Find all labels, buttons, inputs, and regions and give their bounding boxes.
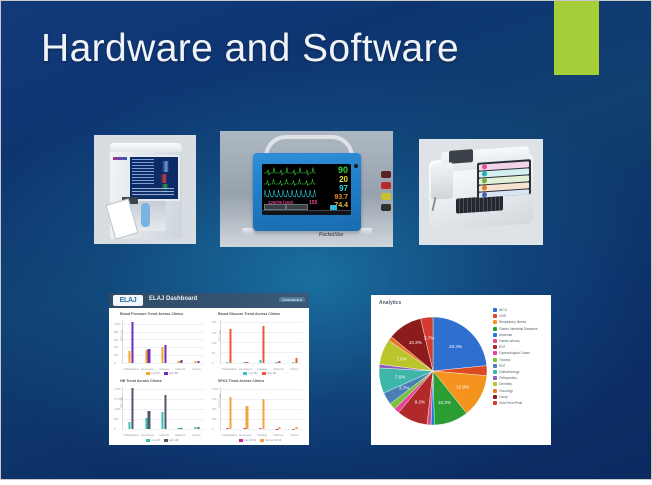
chart-x-tick: Gulbarga [257,368,267,371]
chart-y-tick: 1,000 [212,388,219,391]
legend-label: High BG [267,373,277,376]
legend-swatch [493,308,497,312]
chart-bar-group [243,387,248,430]
dashboard-chart-2: Blood Glucose Trend Across ClinicsBG Cou… [210,311,306,376]
pie-slice-label: 7.6% [396,357,406,362]
chart-bar [129,351,131,363]
chart-legend: Low BGHigh BG [210,372,306,375]
chart-bar-group [178,387,183,430]
chart-y-tick: 250 [212,418,216,421]
chart-legend: Low SPO2Normal SPO2 [210,439,306,442]
chart-bar-group [178,320,183,363]
chart-x-tick: Mahboob [273,434,283,437]
chart-y-tick: 500 [114,418,118,421]
dashboard-header: ELAJ ELAJ Dashboard Dashboard [109,293,309,308]
chart-bar-group [292,387,297,430]
chart-bar-group [194,387,199,430]
legend-label: Low BP [151,373,160,376]
chart-bar [246,362,248,363]
chart-bar [181,360,183,362]
legend-swatch [493,364,497,368]
pie-slice-label: 10.3% [438,400,451,405]
chart-y-tick: 1,000 [114,323,121,326]
chart-bar [295,427,297,429]
legend-swatch [243,372,247,375]
chart-bar [227,428,229,429]
legend-label: Low BG [248,373,257,376]
legend-swatch [493,370,497,374]
chart-y-tick: 200 [114,354,118,357]
page-title: Hardware and Software [41,27,459,71]
legend-swatch [493,382,497,386]
legend-label: CNS [499,314,506,318]
pie-chart: 23.4%12.9%10.3%9.2%3.7%7.6%7.6%10.3%3.7% [377,311,493,435]
chart-y-tick: 2,000 [114,388,121,391]
vital-rr: 20 [339,176,348,184]
chart-bar [279,361,281,363]
chart-bar-group [161,387,166,430]
image-analytics-pie: Analytics 23.4%12.9%10.3%9.2%3.7%7.6%7.6… [371,295,551,445]
dashboard-header-pill: Dashboard [279,297,305,302]
chart-x-tick: Gulbarga [159,434,169,437]
chart-bar-group [129,320,134,363]
chart-x-tick: Devanagere [239,368,252,371]
chart-plot-area: BG Count050100150200ChikkaballapurDevana… [220,320,303,364]
gridline [221,363,303,364]
legend-label: Orthopedics [499,376,517,380]
chart-bar [194,427,196,429]
legend-label: Gynecological Cases [499,351,530,355]
legend-label: Opthalmology [499,370,519,374]
legend-swatch [164,372,168,375]
chart-x-tick: Raichur [291,368,299,371]
chart-bar [132,322,134,363]
chart-y-tick: 1,000 [114,408,121,411]
chart-x-tick: Raichur [291,434,299,437]
chart-x-tick: Mahboob [273,368,283,371]
device-screen-icon [128,155,180,201]
chart-y-tick: 500 [212,408,216,411]
legend-swatch [493,376,497,380]
legend-label: Dentistry [499,382,512,386]
legend-label: Normal SPO2 [265,439,281,442]
chart-plot-area: SPO2 Count02505007501,000ChikkaballapurD… [220,387,303,431]
chart-bar [164,395,166,429]
image-clinic-dashboard: ELAJ ELAJ Dashboard Dashboard Blood Pres… [109,293,309,445]
dashboard-chart-4: SPO2 Trend Across ClinicsSPO2 Count02505… [210,378,306,443]
chart-bar-group [276,387,281,430]
chart-bar-group [259,320,264,363]
chart-bar [194,361,196,362]
legend-swatch [493,358,497,362]
chart-x-tick: Devanagere [141,368,154,371]
chart-bar [292,362,294,363]
pie-slice-label: 7.6% [395,375,405,380]
chart-bar [262,399,264,429]
chart-bar [230,397,232,429]
chart-y-tick: 200 [212,321,216,324]
chart-x-tick: Chikkaballapur [123,434,139,437]
chart-bar-group [145,320,150,363]
chart-x-tick: Devanagere [141,434,154,437]
chart-y-tick: 600 [114,339,118,342]
legend-label: Low SPO2 [244,439,256,442]
chart-x-tick: Chikkaballapur [221,434,237,437]
chart-y-tick: 100 [212,342,216,345]
legend-swatch [493,389,497,393]
chart-bar-group [227,387,232,430]
gridline [123,429,205,430]
legend-label: Trauma [499,358,510,362]
chart-bar-group [243,320,248,363]
chart-y-tick: 0 [114,362,115,365]
legend-swatch [493,401,497,405]
ecg-waveform-icon [264,165,316,176]
chart-bar [259,360,261,362]
pie-chart-legend: NICUCNSRespiratory IllnessGastro Intesti… [493,307,537,406]
chart-y-tick: 50 [212,352,215,355]
chart-bar [243,428,245,429]
legend-swatch [493,345,497,349]
image-hematology-analyzer [94,135,196,244]
gridline [123,363,205,364]
pie-slice-label: 10.3% [409,340,422,345]
chart-x-tick: Raichur [193,434,201,437]
legend-swatch [493,339,497,343]
chart-y-tick: 400 [114,346,118,349]
chart-bar-group [161,320,166,363]
legend-swatch [493,333,497,337]
monitor-brand-label: PocketStar [319,232,343,238]
chart-legend: Low BPHigh BP [112,372,208,375]
pie-slice-label: 23.4% [449,344,462,349]
chart-x-tick: Gulbarga [159,368,169,371]
chart-bar-group [129,387,134,430]
chart-bar [295,358,297,362]
chart-x-tick: Chikkaballapur [123,368,139,371]
vital-spo2: 97 [339,185,348,193]
pie-slice-label: 9.2% [415,399,425,404]
pie-chart-title: Analytics [379,300,401,306]
vital-pulse: 155 [309,200,317,206]
pie-slice-label: 12.9% [456,384,469,389]
chart-bar [161,347,163,362]
legend-label: NICU [499,308,507,312]
chart-x-tick: Mahboob [175,434,185,437]
legend-label: Genito urinary [499,339,520,343]
chart-x-tick: Chikkaballapur [221,368,237,371]
legend-label: Anaemia [499,333,512,337]
chart-legend: Low HBHigh HB [112,439,208,442]
chart-y-tick: 0 [212,362,213,365]
legend-label: High BP [169,373,179,376]
chart-bar [227,362,229,363]
chart-title: HB Trend Across Clinics [120,379,208,383]
chart-bar [129,422,131,429]
chart-bar [181,428,183,429]
chart-bar [178,428,180,429]
chart-bar [145,418,147,429]
legend-label: Respiratory Illness [499,320,526,324]
chart-bar [178,361,180,363]
chart-bar [197,361,199,363]
monitor-display: 90 20 97 93.7 74.4 125/78 (102) 155 [262,164,351,215]
resp-waveform-icon [264,176,316,187]
accent-bar [554,1,599,75]
presentation-slide: Hardware and Software [0,0,652,480]
image-patient-monitor: 90 20 97 93.7 74.4 125/78 (102) 155 Pock… [220,131,393,247]
vital-temp1: 93.7 [334,194,348,201]
vital-hr: 90 [338,166,348,175]
chart-plot-area: HB Count05001,0001.5,5002,000Chikkaballa… [122,387,205,431]
indicator-led-icon [354,164,358,168]
chart-bar-group [227,320,232,363]
chart-y-tick: 800 [114,331,118,334]
spo2-waveform-icon [264,187,316,199]
chart-bar-group [292,320,297,363]
pie-slice-label: 3.7% [399,386,409,391]
chart-bar [279,427,281,429]
legend-swatch [262,372,266,375]
chart-bar-group [145,387,150,430]
legend-label: Low HB [151,439,160,442]
chart-title: Blood Glucose Trend Across Clinics [218,312,306,316]
chart-title: SPO2 Trend Across Clinics [218,379,306,383]
chart-bar [262,326,264,362]
chart-bar [164,345,166,362]
analyzer-touchscreen [477,159,531,198]
dashboard-logo: ELAJ [113,295,143,306]
chart-x-tick: Raichur [193,368,201,371]
chart-title: Blood Pressure Trend Across Clinics [120,312,208,316]
dashboard-header-right: Dashboard [276,297,305,302]
legend-swatch [493,320,497,324]
chart-bar [243,362,245,363]
chart-bar-group [194,320,199,363]
legend-label: Camp [499,395,508,399]
legend-label: ENT [499,364,506,368]
legend-swatch [493,395,497,399]
chart-y-tick: 750 [212,398,216,401]
legend-swatch [146,372,150,375]
legend-swatch [146,439,150,442]
dashboard-title: ELAJ Dashboard [149,296,197,302]
chart-y-tick: 150 [212,332,216,335]
dashboard-chart-grid: Blood Pressure Trend Across ClinicsBP Co… [112,311,306,442]
gridline [221,429,303,430]
chart-bar [230,329,232,363]
chart-bar [161,412,163,429]
legend-swatch [493,327,497,331]
chart-plot-area: BP Count02004006008001,000Chikkaballapur… [122,320,205,364]
chart-y-axis-label: SPO2 Count [219,393,222,408]
legend-swatch [260,439,264,442]
legend-swatch [164,439,168,442]
chart-bar [145,350,147,363]
dashboard-chart-3: HB Trend Across ClinicsHB Count05001,000… [112,378,208,443]
chart-bar [132,388,134,429]
chart-bar-group [259,387,264,430]
chart-x-tick: Devanagere [239,434,252,437]
chart-y-tick: 0 [212,428,213,431]
legend-swatch [493,351,497,355]
legend-swatch [493,314,497,318]
legend-label: Gastro Intestinal Diseases [499,327,537,331]
legend-label: Viral Fever/Pain [499,401,522,405]
chart-bar-group [276,320,281,363]
image-biochemistry-analyzer [419,139,543,245]
chart-x-tick: Gulbarga [257,434,267,437]
legend-label: ENT [499,345,506,349]
chart-bar [148,349,150,363]
dashboard-chart-1: Blood Pressure Trend Across ClinicsBP Co… [112,311,208,376]
chart-x-tick: Mahboob [175,368,185,371]
chart-y-tick: 1.5,500 [114,398,123,401]
pie-slice-label: 3.7% [424,335,434,340]
chart-y-tick: 0 [114,428,115,431]
chart-bar [197,427,199,429]
legend-label: High HB [169,439,179,442]
chart-bar [246,406,248,429]
legend-label: Oncology [499,389,513,393]
chart-bar [259,428,261,429]
legend-item: Viral Fever/Pain [493,400,537,406]
chart-bar [148,411,150,429]
legend-swatch [239,439,243,442]
